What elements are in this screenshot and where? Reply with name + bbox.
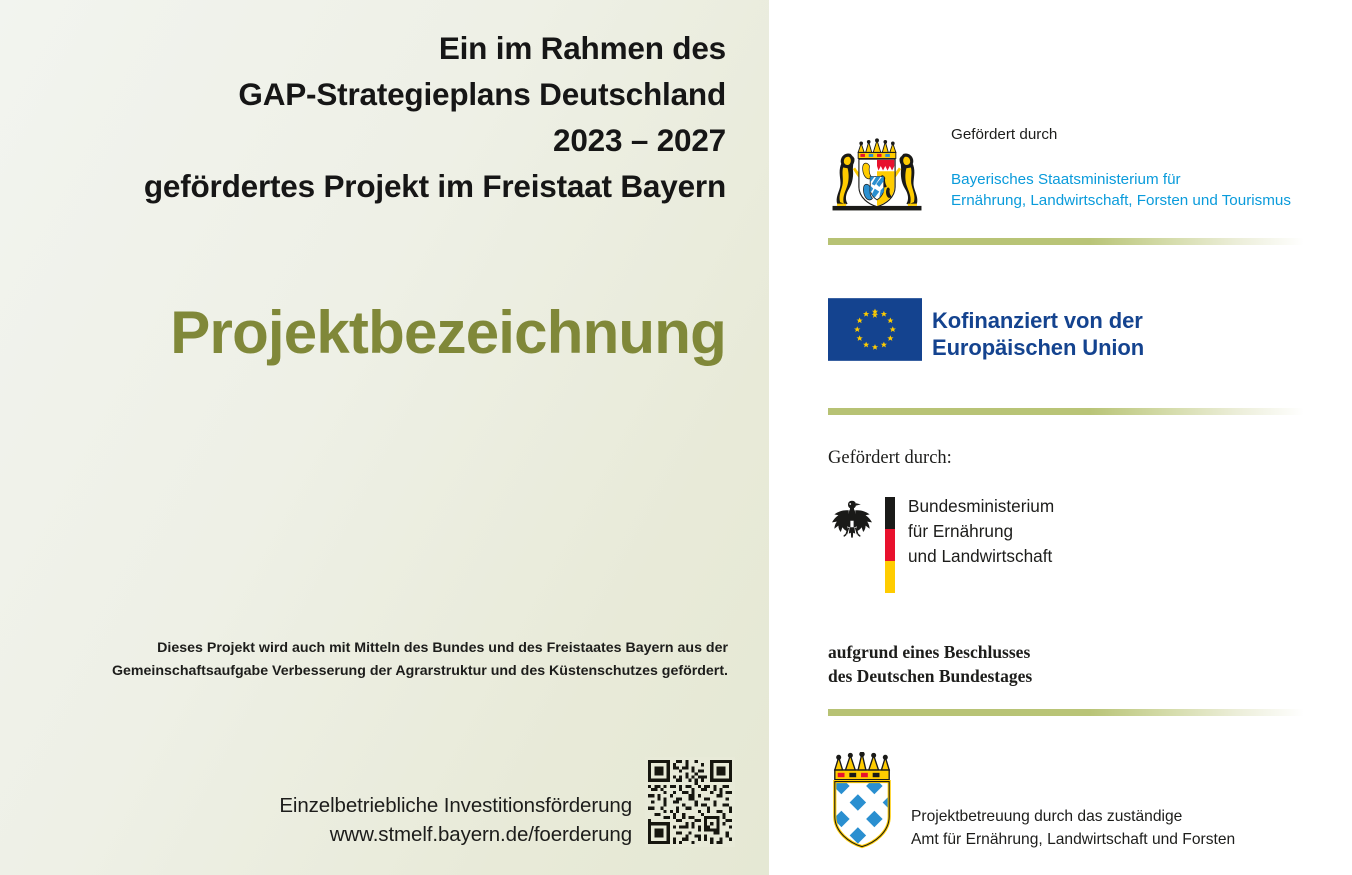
bavarian-state-coat-of-arms-icon: [828, 137, 926, 213]
eu-text-line-1: Kofinanziert von der: [932, 307, 1144, 334]
aelf-text: Projektbetreuung durch das zuständige Am…: [911, 806, 1235, 852]
footer-left: Einzelbetriebliche Investitionsförderung…: [0, 791, 769, 861]
flag-segment-red: [885, 529, 895, 561]
intro-line-1: Ein im Rahmen des: [26, 26, 726, 72]
funding-note: Dieses Projekt wird auch mit Mitteln des…: [28, 637, 728, 683]
footer-text: Einzelbetriebliche Investitionsförderung…: [0, 791, 632, 849]
poster-canvas: Ein im Rahmen des GAP-Strategieplans Deu…: [0, 0, 1352, 875]
footer-line-program: Einzelbetriebliche Investitionsförderung: [0, 791, 632, 820]
bundestag-note-line-1: aufgrund eines Beschlusses: [828, 641, 1032, 665]
left-panel: Ein im Rahmen des GAP-Strategieplans Deu…: [0, 0, 769, 875]
intro-line-4: gefördertes Projekt im Freistaat Bayern: [26, 164, 726, 210]
bundestag-note-line-2: des Deutschen Bundestages: [828, 665, 1032, 689]
funding-note-line-2: Gemeinschaftsaufgabe Verbesserung der Ag…: [28, 660, 728, 683]
eu-funding-block: Kofinanziert von der Europäischen Union: [828, 298, 1328, 368]
bmel-funding-block: Gefördert durch:: [828, 448, 1328, 688]
aelf-text-line-2: Amt für Ernährung, Landwirtschaft und Fo…: [911, 829, 1235, 852]
divider-1: [828, 238, 1304, 245]
european-union-flag-icon: [828, 298, 922, 361]
bmel-logo: Bundesministerium für Ernährung und Land…: [828, 496, 1058, 592]
bmel-name-line-3: und Landwirtschaft: [908, 544, 1054, 569]
flag-segment-gold: [885, 561, 895, 593]
ministry-kicker: Gefördert durch: [951, 125, 1291, 145]
right-panel: Gefördert durch Bayerisches Staatsminist…: [769, 0, 1352, 875]
bavarian-ministry-block: Gefördert durch Bayerisches Staatsminist…: [828, 125, 1348, 220]
aelf-block: Projektbetreuung durch das zuständige Am…: [828, 752, 1348, 857]
divider-2: [828, 408, 1304, 415]
flag-segment-black: [885, 497, 895, 529]
aelf-text-line-1: Projektbetreuung durch das zuständige: [911, 806, 1235, 829]
german-federal-eagle-icon: [828, 496, 876, 544]
divider-3: [828, 709, 1304, 716]
ministry-name-line-2: Ernährung, Landwirtschaft, Forsten und T…: [951, 190, 1291, 212]
funding-note-line-1: Dieses Projekt wird auch mit Mitteln des…: [28, 637, 728, 660]
qr-code[interactable]: [645, 757, 735, 847]
intro-line-2: GAP-Strategieplans Deutschland: [26, 72, 726, 118]
intro-line-3: 2023 – 2027: [26, 118, 726, 164]
bmel-kicker: Gefördert durch:: [828, 448, 952, 469]
bundestag-note: aufgrund eines Beschlusses des Deutschen…: [828, 641, 1032, 688]
intro-heading: Ein im Rahmen des GAP-Strategieplans Deu…: [26, 26, 726, 210]
ministry-name-line-1: Bayerisches Staatsministerium für: [951, 169, 1291, 191]
project-title: Projektbezeichnung: [26, 300, 726, 366]
bmel-name-line-1: Bundesministerium: [908, 494, 1054, 519]
bmel-name-line-2: für Ernährung: [908, 519, 1054, 544]
eu-text-line-2: Europäischen Union: [932, 334, 1144, 361]
eu-funding-text: Kofinanziert von der Europäischen Union: [932, 307, 1144, 362]
ministry-text: Gefördert durch Bayerisches Staatsminist…: [951, 125, 1291, 212]
bavarian-shield-icon: [828, 752, 896, 850]
footer-line-url[interactable]: www.stmelf.bayern.de/foerderung: [0, 820, 632, 849]
bmel-name: Bundesministerium für Ernährung und Land…: [908, 494, 1054, 569]
german-flag-bar-icon: [885, 497, 895, 593]
ministry-name: Bayerisches Staatsministerium für Ernähr…: [951, 169, 1291, 212]
